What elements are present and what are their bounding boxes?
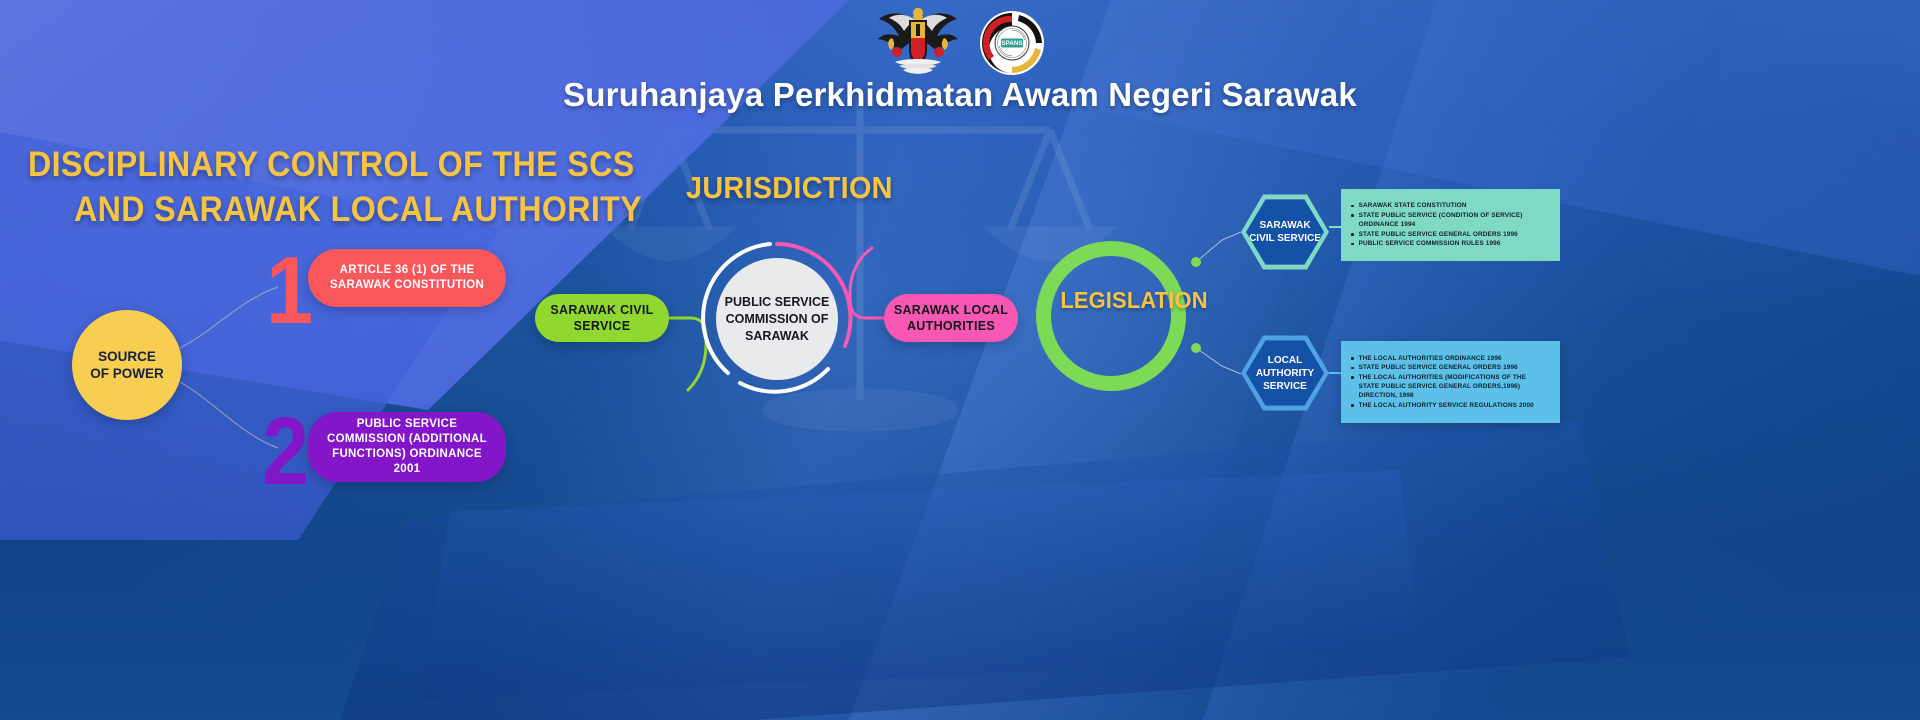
organisation-title: Suruhanjaya Perkhidmatan Awam Negeri Sar… [563,76,1357,114]
spans-logo-text: SPANS [1001,40,1023,47]
list-item-text: STATE PUBLIC SERVICE (CONDITION OF SERVI… [1359,211,1548,230]
list-item: PUBLIC SERVICE COMMISSION RULES 1996 [1351,239,1548,248]
jurisdiction-node-civil-service: SARAWAK CIVIL SERVICE [535,294,669,342]
source-item-2: PUBLIC SERVICE COMMISSION (ADDITIONAL FU… [308,412,506,482]
source-of-power-line-2: OF POWER [90,365,164,382]
logo-group: SPANS [875,6,1045,80]
jurisdiction-heading: JURISDICTION [686,170,893,206]
page-title-line-1: DISCIPLINARY CONTROL OF THE SCS [28,145,635,184]
legislation-list-local-authority: THE LOCAL AUTHORITIES ORDINANCE 1996 STA… [1341,341,1560,423]
legislation-list-civil-service: SARAWAK STATE CONSTITUTION STATE PUBLIC … [1341,189,1560,261]
sarawak-state-crest-icon [875,6,961,80]
item-number-1: 1 [266,243,310,339]
list-item-text: PUBLIC SERVICE COMMISSION RULES 1996 [1359,239,1501,248]
spans-logo-icon: SPANS [979,10,1045,76]
page-title: DISCIPLINARY CONTROL OF THE SCS AND SARA… [28,142,642,232]
item-number-2: 2 [262,404,306,500]
bullet-dot-icon [1351,404,1354,407]
infographic-canvas: SPANS Suruhanjaya Perkhidmatan Awam Nege… [0,0,1920,720]
list-item-text: THE LOCAL AUTHORITIES (MODIFICATIONS OF … [1359,373,1548,401]
source-item-1: ARTICLE 36 (1) OF THE SARAWAK CONSTITUTI… [308,249,506,307]
page-title-line-2: AND SARAWAK LOCAL AUTHORITY [28,187,642,232]
list-item: STATE PUBLIC SERVICE (CONDITION OF SERVI… [1351,211,1548,230]
bullet-dot-icon [1351,233,1354,236]
list-item: STATE PUBLIC SERVICE GENERAL ORDERS 1996 [1351,230,1548,239]
list-item-text: SARAWAK STATE CONSTITUTION [1359,201,1467,210]
jurisdiction-node-psc: PUBLIC SERVICE COMMISSION OF SARAWAK [716,258,838,380]
bullet-dot-icon [1351,214,1354,217]
list-item: SARAWAK STATE CONSTITUTION [1351,201,1548,210]
list-item-text: THE LOCAL AUTHORITIES ORDINANCE 1996 [1359,354,1502,363]
list-item: THE LOCAL AUTHORITIES (MODIFICATIONS OF … [1351,373,1548,401]
source-of-power-line-1: SOURCE [98,348,156,365]
list-item-text: STATE PUBLIC SERVICE GENERAL ORDERS 1996 [1359,363,1518,372]
list-item: THE LOCAL AUTHORITY SERVICE REGULATIONS … [1351,401,1548,410]
list-item-text: STATE PUBLIC SERVICE GENERAL ORDERS 1996 [1359,230,1518,239]
source-of-power-node: SOURCE OF POWER [72,310,182,420]
list-item: STATE PUBLIC SERVICE GENERAL ORDERS 1996 [1351,363,1548,372]
jurisdiction-node-local-authorities: SARAWAK LOCAL AUTHORITIES [884,294,1018,342]
bullet-dot-icon [1351,205,1354,208]
list-item-text: THE LOCAL AUTHORITY SERVICE REGULATIONS … [1359,401,1534,410]
legislation-ring [1036,241,1186,391]
legislation-label: LEGISLATION [1059,287,1209,314]
bullet-dot-icon [1351,367,1354,370]
list-item: THE LOCAL AUTHORITIES ORDINANCE 1996 [1351,354,1548,363]
bullet-dot-icon [1351,357,1354,360]
bullet-dot-icon [1351,376,1354,379]
bullet-dot-icon [1351,243,1354,246]
